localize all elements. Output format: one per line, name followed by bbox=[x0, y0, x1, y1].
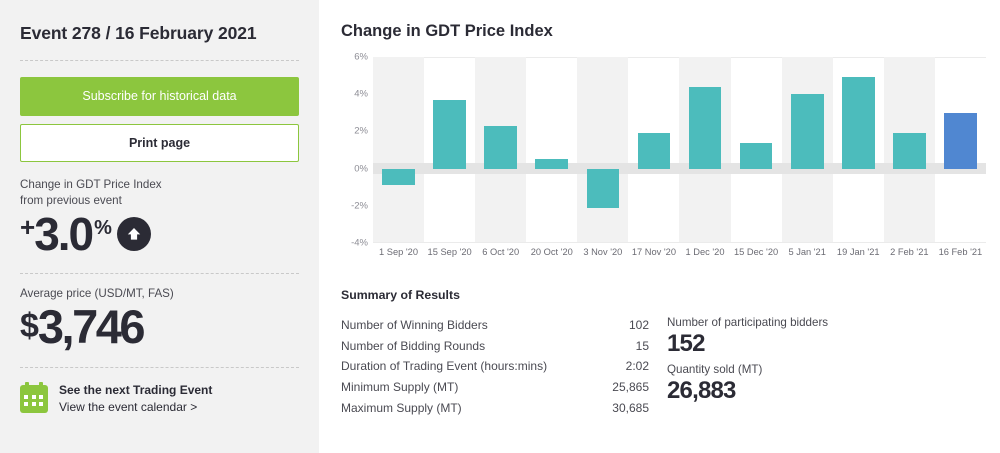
change-sign: + bbox=[20, 212, 34, 242]
x-axis-tick: 3 Nov '20 bbox=[577, 247, 628, 257]
average-price-label: Average price (USD/MT, FAS) bbox=[20, 287, 299, 300]
summary-row-value: 25,865 bbox=[612, 377, 649, 398]
chart-bar[interactable] bbox=[535, 159, 568, 168]
next-event-text: See the next Trading Event View the even… bbox=[59, 382, 212, 414]
chart-bar[interactable] bbox=[433, 100, 466, 169]
gdt-price-index-chart: 6%4%2%0%-2%-4% 1 Sep '2015 Sep '206 Oct … bbox=[341, 57, 986, 263]
summary-row-label: Duration of Trading Event (hours:mins) bbox=[341, 356, 547, 377]
currency-symbol: $ bbox=[20, 307, 38, 345]
change-percent-symbol: % bbox=[94, 217, 110, 239]
chart-bar[interactable] bbox=[893, 133, 926, 168]
print-page-button[interactable]: Print page bbox=[20, 124, 299, 163]
x-axis-tick: 1 Dec '20 bbox=[679, 247, 730, 257]
gdt-results-page: Event 278 / 16 February 2021 Subscribe f… bbox=[0, 0, 1000, 453]
chart-plot-area bbox=[373, 57, 986, 243]
x-axis-tick: 16 Feb '21 bbox=[935, 247, 986, 257]
chart-bar[interactable] bbox=[689, 87, 722, 169]
next-trading-event-link[interactable]: See the next Trading Event View the even… bbox=[20, 382, 299, 414]
summary-highlight-value: 26,883 bbox=[667, 377, 828, 405]
divider-middle bbox=[20, 273, 299, 274]
change-index-value-row: +3.0% bbox=[20, 211, 299, 257]
summary-row-value: 30,685 bbox=[612, 398, 649, 419]
chart-bar[interactable] bbox=[587, 169, 620, 208]
next-event-title: See the next Trading Event bbox=[59, 382, 212, 398]
page-title: Event 278 / 16 February 2021 bbox=[20, 23, 299, 44]
summary-row: Number of Bidding Rounds15 bbox=[341, 336, 649, 357]
y-axis-tick: 0% bbox=[354, 163, 368, 174]
summary-row: Minimum Supply (MT)25,865 bbox=[341, 377, 649, 398]
chart-bar-slot[interactable] bbox=[782, 57, 833, 243]
chart-bar-slot[interactable] bbox=[526, 57, 577, 243]
x-axis-tick: 19 Jan '21 bbox=[833, 247, 884, 257]
chart-bar[interactable] bbox=[944, 113, 977, 169]
x-axis-tick: 2 Feb '21 bbox=[884, 247, 935, 257]
calendar-icon bbox=[20, 385, 48, 413]
summary-row-value: 102 bbox=[629, 315, 649, 336]
divider-top bbox=[20, 60, 299, 61]
summary-row-label: Minimum Supply (MT) bbox=[341, 377, 458, 398]
summary-table: Number of Winning Bidders102Number of Bi… bbox=[341, 315, 649, 418]
chart-bar-slot[interactable] bbox=[475, 57, 526, 243]
change-index-label-line1: Change in GDT Price Index bbox=[20, 178, 162, 191]
summary-highlight-label: Number of participating bidders bbox=[667, 315, 828, 330]
y-axis-tick: -4% bbox=[351, 238, 368, 249]
subscribe-button[interactable]: Subscribe for historical data bbox=[20, 77, 299, 116]
summary-row-label: Number of Bidding Rounds bbox=[341, 336, 485, 357]
summary-row-label: Maximum Supply (MT) bbox=[341, 398, 462, 419]
x-axis-tick: 15 Sep '20 bbox=[424, 247, 475, 257]
divider-bottom bbox=[20, 367, 299, 368]
average-price-value: $3,746 bbox=[20, 302, 299, 351]
change-number: 3.0 bbox=[34, 208, 92, 260]
chart-title: Change in GDT Price Index bbox=[341, 22, 986, 41]
chart-bar[interactable] bbox=[842, 77, 875, 168]
summary-columns: Number of Winning Bidders102Number of Bi… bbox=[341, 315, 986, 418]
change-index-label: Change in GDT Price Index from previous … bbox=[20, 177, 299, 209]
chart-bar-slot[interactable] bbox=[628, 57, 679, 243]
chart-bar-slot[interactable] bbox=[373, 57, 424, 243]
y-axis-tick: 6% bbox=[354, 52, 368, 63]
summary-row: Number of Winning Bidders102 bbox=[341, 315, 649, 336]
summary-highlight: Number of participating bidders152 bbox=[667, 315, 828, 358]
change-index-value: +3.0% bbox=[20, 211, 110, 257]
summary-row-value: 15 bbox=[636, 336, 649, 357]
chart-bar[interactable] bbox=[638, 133, 671, 168]
chart-y-axis: 6%4%2%0%-2%-4% bbox=[341, 57, 371, 243]
chart-bar-slot[interactable] bbox=[884, 57, 935, 243]
x-axis-tick: 20 Oct '20 bbox=[526, 247, 577, 257]
x-axis-tick: 17 Nov '20 bbox=[628, 247, 679, 257]
chart-bar[interactable] bbox=[484, 126, 517, 169]
summary-row: Duration of Trading Event (hours:mins)2:… bbox=[341, 356, 649, 377]
summary-of-results: Summary of Results Number of Winning Bid… bbox=[341, 288, 986, 418]
chart-bars bbox=[373, 57, 986, 243]
chart-bar-slot[interactable] bbox=[424, 57, 475, 243]
main-content: Change in GDT Price Index 6%4%2%0%-2%-4%… bbox=[319, 0, 1000, 453]
chart-bar-slot[interactable] bbox=[679, 57, 730, 243]
y-axis-tick: -2% bbox=[351, 200, 368, 211]
summary-row-value: 2:02 bbox=[626, 356, 649, 377]
x-axis-tick: 5 Jan '21 bbox=[782, 247, 833, 257]
summary-highlight-label: Quantity sold (MT) bbox=[667, 362, 828, 377]
chart-x-axis: 1 Sep '2015 Sep '206 Oct '2020 Oct '203 … bbox=[373, 247, 986, 257]
chart-bar-slot[interactable] bbox=[731, 57, 782, 243]
summary-highlights: Number of participating bidders152Quanti… bbox=[667, 315, 828, 418]
plot-bottom-border bbox=[373, 242, 986, 243]
x-axis-tick: 1 Sep '20 bbox=[373, 247, 424, 257]
chart-bar[interactable] bbox=[382, 169, 415, 186]
summary-highlight: Quantity sold (MT)26,883 bbox=[667, 362, 828, 405]
chart-bar[interactable] bbox=[791, 94, 824, 168]
chart-bar[interactable] bbox=[740, 143, 773, 169]
chart-bar-slot[interactable] bbox=[833, 57, 884, 243]
y-axis-tick: 2% bbox=[354, 126, 368, 137]
price-number: 3,746 bbox=[38, 300, 143, 353]
x-axis-tick: 6 Oct '20 bbox=[475, 247, 526, 257]
up-arrow-icon bbox=[117, 217, 151, 251]
summary-highlight-value: 152 bbox=[667, 330, 828, 358]
y-axis-tick: 4% bbox=[354, 89, 368, 100]
change-index-label-line2: from previous event bbox=[20, 194, 122, 207]
summary-row: Maximum Supply (MT)30,685 bbox=[341, 398, 649, 419]
chart-bar-slot[interactable] bbox=[935, 57, 986, 243]
x-axis-tick: 15 Dec '20 bbox=[731, 247, 782, 257]
next-event-subtitle: View the event calendar > bbox=[59, 399, 212, 415]
sidebar: Event 278 / 16 February 2021 Subscribe f… bbox=[0, 0, 319, 453]
chart-bar-slot[interactable] bbox=[577, 57, 628, 243]
summary-title: Summary of Results bbox=[341, 288, 986, 302]
summary-row-label: Number of Winning Bidders bbox=[341, 315, 488, 336]
